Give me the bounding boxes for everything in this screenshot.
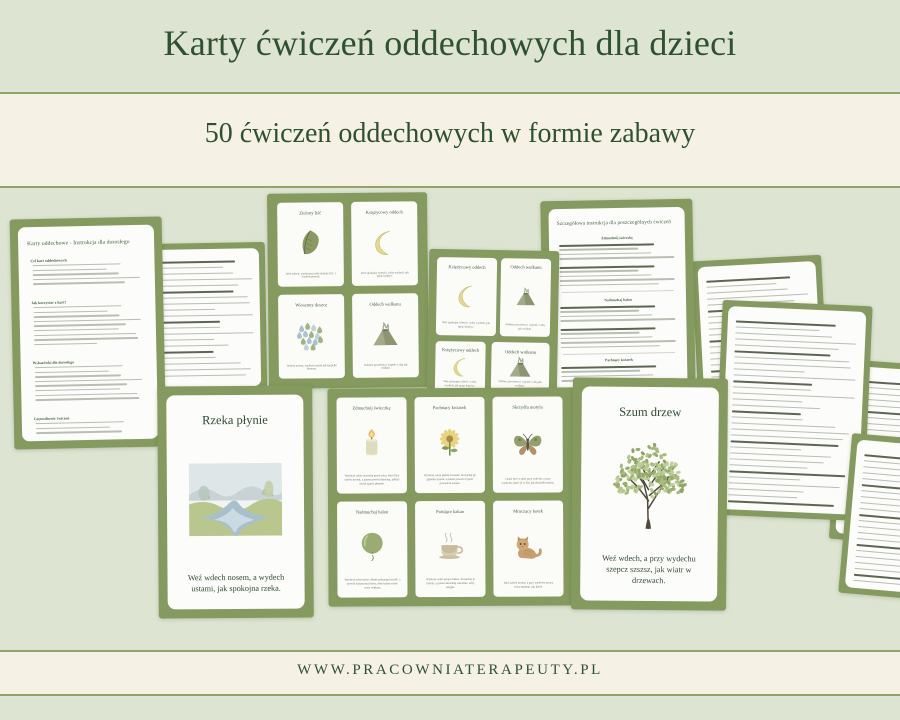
river-card-sheet: Rzeka płynieWeź wdech nosem, a wydech us… (157, 385, 314, 618)
text-line (733, 374, 855, 381)
text-line (34, 328, 119, 331)
text-line (734, 356, 849, 362)
text-line (733, 380, 812, 385)
text-line (561, 327, 656, 330)
adult-instruction-title: Karty oddechowe - Instrukcja dla dorosłe… (27, 239, 130, 247)
breathing-card-description: Weź wdech, wyobrażaj sobie zielony liść,… (278, 272, 344, 287)
text-line (160, 267, 223, 269)
text-line (559, 252, 651, 255)
text-line (560, 278, 675, 281)
text-line (730, 452, 831, 458)
text-line (162, 368, 251, 371)
text-line (735, 332, 832, 338)
text-line (707, 288, 788, 294)
text-line (732, 416, 803, 420)
adult-instruction-page: Karty oddechowe - Instrukcja dla dorosłe… (18, 225, 158, 442)
page-title: Karty ćwiczeń oddechowych dla dzieci (0, 22, 900, 64)
breathing-card[interactable]: Mruczący kotekWeź wdech nosem, a przy wy… (493, 500, 564, 596)
breathing-card[interactable]: Oddech wulkanuNabierz powietrza i wypuść… (352, 293, 419, 378)
text-line (161, 345, 228, 348)
text-line (561, 370, 640, 373)
breathing-card-description: Nabierz powietrza i wypuść z siłą jak wu… (353, 363, 419, 378)
text-line (707, 293, 808, 300)
text-line (33, 273, 119, 276)
text-line (34, 319, 141, 323)
section-divider (562, 290, 674, 293)
breathing-card[interactable]: Księżycowy oddechWeź spokojny wdech i ci… (435, 341, 486, 394)
balloon-icon (337, 515, 407, 579)
text-line (35, 384, 127, 387)
text-line (560, 318, 675, 321)
raindrops-icon (278, 307, 345, 364)
butterfly-icon (493, 410, 563, 478)
bottom-band (0, 698, 900, 720)
text-line (731, 440, 839, 446)
doc-section-heading: Jak korzystać z kart? (31, 300, 66, 305)
text-line (35, 393, 137, 397)
text-line (34, 324, 126, 327)
text-line (161, 296, 248, 299)
text-line (34, 343, 97, 346)
website-url: WWW.PRACOWNIATERAPEUTY.PL (0, 662, 900, 679)
trees-card-description: Weź wdech, a przy wydechu szepcz szszsz,… (580, 552, 717, 601)
text-line (35, 365, 123, 368)
doc-section-heading: Cel kart oddechowych (30, 258, 66, 263)
text-line (35, 379, 142, 383)
text-line (34, 310, 108, 313)
breathing-card-description: Wdech nosem, wydech ustami jak kropelki … (279, 364, 345, 379)
text-line (162, 374, 246, 377)
text-line (860, 502, 900, 508)
text-line (161, 302, 250, 305)
text-line (732, 410, 801, 415)
breathing-card[interactable]: Skrzydła motylaUnieś ręce w górę przy wd… (492, 396, 563, 492)
text-line (162, 357, 216, 359)
text-line (856, 550, 900, 556)
river-card-description: Weź wdech nosem, a wydech ustami, jak sp… (167, 571, 304, 609)
moon-icon (351, 214, 418, 271)
text-line (735, 344, 839, 350)
text-line (731, 428, 849, 435)
text-line (34, 333, 136, 337)
text-line (36, 421, 124, 424)
river-card-title: Rzeka płynie (202, 413, 268, 428)
text-line (730, 446, 801, 450)
doc-section-heading: Wskazówki dla dorosłego (33, 360, 74, 365)
breathing-card-description: Weź spokojny wdech i cichy wydech, jak ś… (436, 321, 496, 336)
card-group-top: Zielony liśćWeź wdech, wyobrażaj sobie z… (267, 192, 429, 389)
breathing-card[interactable]: Parujące kakaoWyobraź sobie gorące kakao… (415, 501, 486, 597)
text-line (33, 277, 140, 281)
breathing-card[interactable]: Oddech wulkanuNabierz powietrza i wypuść… (500, 258, 551, 337)
text-line (162, 351, 214, 354)
breathing-card-description: Wyobraź sobie balon, dłonie pokazuję kos… (337, 579, 407, 598)
text-line (160, 278, 252, 281)
text-line (161, 339, 214, 341)
page-subtitle: 50 ćwiczeń oddechowych w formie zabawy (0, 118, 900, 150)
text-line (161, 327, 220, 329)
candle-icon (337, 411, 407, 475)
text-line (160, 284, 238, 287)
text-line (561, 336, 653, 339)
text-line (560, 314, 652, 317)
teacup-icon (415, 514, 485, 578)
trees-card[interactable]: Szum drzewWeź wdech, a przy wydechu szep… (580, 386, 719, 601)
cat-icon (493, 514, 563, 582)
text-line (561, 365, 656, 368)
card-group-main: Zdmuchnij świeczkęWyobraź sobie świeczkę… (327, 387, 576, 606)
exercise-section-heading: Nadmuchaj balon (550, 297, 686, 303)
text-line (734, 368, 805, 372)
text-line (856, 544, 900, 550)
exercise-section-heading: Pachnący kwiatek (551, 357, 687, 363)
breathing-card[interactable]: Nadmuchaj balonWyobraź sobie balon, dłon… (337, 501, 408, 597)
text-line (161, 332, 253, 335)
text-line (728, 488, 803, 493)
breathing-card-description: Wyobraź sobie piękny kwiatek. Powąchaj g… (415, 474, 485, 493)
text-line (731, 434, 842, 440)
text-line (161, 309, 215, 311)
document-page (153, 248, 261, 388)
text-line (36, 426, 110, 429)
breathing-card[interactable]: Zielony liśćWeź wdech, wyobrażaj sobie z… (277, 202, 344, 287)
moon-icon (435, 352, 485, 381)
text-line (561, 345, 660, 348)
text-line (735, 338, 856, 345)
detailed-instruction-title: Szczegółowa instrukcja dla poszczególnyc… (557, 219, 671, 227)
breathing-card[interactable]: Księżycowy oddechWeź spokojny wdech i ci… (436, 257, 497, 336)
section-divider (563, 352, 675, 355)
text-line (559, 243, 654, 246)
volcano-icon (500, 269, 551, 324)
text-line (560, 310, 639, 313)
text-line (734, 362, 851, 369)
text-line (34, 315, 120, 318)
text-line (728, 500, 834, 506)
text-line (731, 422, 835, 428)
text-line (35, 388, 120, 391)
text-line (162, 362, 241, 365)
text-line (34, 337, 138, 341)
text-line (729, 476, 800, 480)
text-line (33, 305, 121, 308)
sunflower-icon (415, 410, 485, 474)
river-card[interactable]: Rzeka płynieWeź wdech nosem, a wydech us… (166, 395, 304, 610)
text-line (33, 268, 107, 271)
text-line (561, 340, 676, 343)
breathing-card[interactable]: Pachnący kwiatekWyobraź sobie piękny kwi… (414, 397, 485, 493)
breathing-card[interactable]: Wiosenny deszczWdech nosem, wydech ustam… (278, 294, 345, 379)
volcano-icon (352, 306, 419, 363)
text-line (560, 270, 639, 273)
trees-card-title: Szum drzew (619, 405, 681, 421)
text-line (161, 314, 253, 317)
text-line (730, 458, 824, 464)
text-line (560, 274, 652, 277)
text-line (706, 276, 789, 282)
text-line (736, 326, 819, 331)
text-line (859, 520, 900, 526)
breathing-card-description: Wyobraź sobie świeczkę przed sobą. Weź d… (337, 475, 407, 494)
breathing-card-description: Unieś ręce w górę przy wdechu, a przy wy… (493, 477, 563, 492)
breathing-card-description: Wyobraź sobie gorące kakao. Powąchaj je … (415, 578, 485, 597)
text-line (729, 482, 840, 488)
text-line (561, 332, 640, 335)
text-line (560, 305, 655, 308)
text-line (733, 386, 811, 391)
breathing-card-description: Nabierz powietrza i wypuść z siłą jak wu… (500, 323, 550, 337)
breathing-card-description: Weź wdech nosem, a przy wydechu mrucz ci… (493, 581, 563, 596)
text-line (732, 404, 820, 409)
text-line (853, 580, 900, 586)
leaf-icon (277, 215, 344, 272)
breathing-card[interactable]: Księżycowy oddechWeź spokojny wdech i ci… (351, 201, 418, 286)
text-line (733, 392, 855, 399)
tree-icon (580, 419, 718, 553)
adult-instruction-sheet: Karty oddechowe - Instrukcja dla dorosłe… (10, 216, 167, 449)
moon-icon (436, 269, 497, 322)
text-line (33, 263, 121, 266)
document-page (720, 306, 867, 515)
text-line (728, 494, 797, 498)
document-page (845, 440, 900, 597)
text-line (560, 283, 659, 286)
detailed-instruction-page: Szczegółowa instrukcja dla poszczególnyc… (548, 207, 687, 389)
text-line (559, 265, 654, 268)
text-line (736, 320, 836, 326)
text-line (732, 398, 802, 402)
volcano-icon (491, 354, 549, 381)
card-group-top-right: Księżycowy oddechWeź spokojny wdech i ci… (427, 249, 560, 401)
breathing-card-description: Weź spokojny wdech i cichy wydech, jak ś… (352, 271, 418, 286)
river-icon (166, 427, 304, 572)
text-line (559, 256, 674, 259)
text-line (35, 375, 121, 378)
text-line (161, 291, 234, 294)
exercise-section-heading: Zdmuchnij świeczkę (549, 235, 685, 241)
detailed-instruction-sheet: Szczegółowa instrukcja dla poszczególnyc… (540, 199, 695, 398)
text-line (35, 370, 109, 373)
breathing-card[interactable]: Zdmuchnij świeczkęWyobraź sobie świeczkę… (336, 397, 407, 493)
text-line (161, 321, 220, 324)
text-line (707, 283, 777, 288)
trees-card-sheet: Szum drzewWeź wdech, a przy wydechu szep… (571, 377, 728, 610)
text-line (857, 532, 900, 538)
text-line (730, 464, 808, 469)
text-line (33, 282, 125, 285)
collage-area: Karty oddechowe - Instrukcja dla dorosłe… (0, 188, 900, 650)
text-line (36, 431, 122, 434)
text-line (160, 273, 233, 276)
text-line (559, 248, 638, 251)
doc-section-heading: Częstotliwość ćwiczeń (34, 416, 70, 421)
text-line (734, 350, 830, 356)
text-line (35, 397, 139, 401)
text-line (160, 260, 235, 263)
